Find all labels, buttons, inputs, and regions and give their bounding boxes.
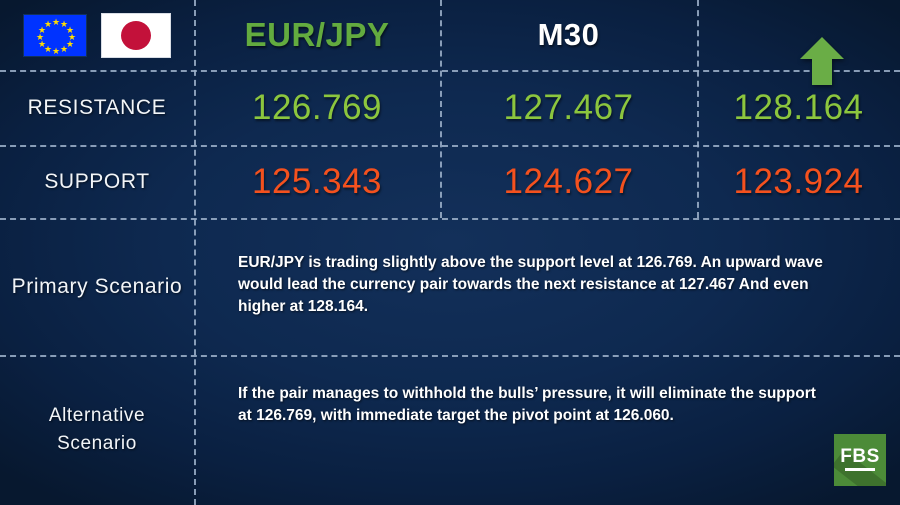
primary-scenario-text: EUR/JPY is trading slightly above the su… bbox=[238, 252, 852, 318]
japan-flag bbox=[101, 13, 171, 58]
support-value-3: 123.924 bbox=[733, 162, 863, 202]
alternative-scenario-label-line2: Scenario bbox=[57, 433, 137, 454]
trend-cell bbox=[697, 0, 900, 70]
currency-pair-title: EUR/JPY bbox=[245, 16, 390, 54]
fbs-logo-text: FBS bbox=[834, 447, 886, 466]
resistance-value-3-cell: 128.164 bbox=[697, 70, 900, 145]
european-union-flag bbox=[23, 14, 87, 57]
resistance-value-2-cell: 127.467 bbox=[440, 70, 697, 145]
alternative-scenario-text: If the pair manages to withhold the bull… bbox=[238, 383, 830, 427]
primary-scenario-label-cell: Primary Scenario bbox=[0, 218, 194, 355]
support-value-1: 125.343 bbox=[252, 162, 382, 202]
support-label-cell: SUPPORT bbox=[0, 145, 194, 218]
resistance-value-3: 128.164 bbox=[733, 88, 863, 128]
alternative-scenario-label: Alternative Scenario bbox=[49, 402, 145, 457]
fbs-logo-underline bbox=[845, 468, 875, 471]
fbs-logo: FBS bbox=[834, 434, 886, 486]
support-value-2-cell: 124.627 bbox=[440, 145, 697, 218]
currency-pair-cell: EUR/JPY bbox=[194, 0, 440, 70]
japan-flag-disc bbox=[121, 21, 151, 50]
forex-analysis-card: EUR/JPY M30 RESISTANCE 126.769 127.467 1… bbox=[0, 0, 900, 505]
alternative-scenario-label-line1: Alternative bbox=[49, 405, 145, 426]
flags-cell bbox=[0, 0, 194, 70]
support-value-3-cell: 123.924 bbox=[697, 145, 900, 218]
timeframe-title: M30 bbox=[538, 17, 600, 53]
resistance-label-cell: RESISTANCE bbox=[0, 70, 194, 145]
resistance-value-2: 127.467 bbox=[503, 88, 633, 128]
primary-scenario-label: Primary Scenario bbox=[12, 275, 183, 299]
resistance-label: RESISTANCE bbox=[28, 96, 167, 120]
support-label: SUPPORT bbox=[44, 170, 149, 194]
resistance-value-1-cell: 126.769 bbox=[194, 70, 440, 145]
support-value-1-cell: 125.343 bbox=[194, 145, 440, 218]
resistance-value-1: 126.769 bbox=[252, 88, 382, 128]
flag-pair bbox=[23, 13, 171, 58]
support-value-2: 124.627 bbox=[503, 162, 633, 202]
alternative-scenario-label-cell: Alternative Scenario bbox=[0, 355, 194, 505]
timeframe-cell: M30 bbox=[440, 0, 697, 70]
